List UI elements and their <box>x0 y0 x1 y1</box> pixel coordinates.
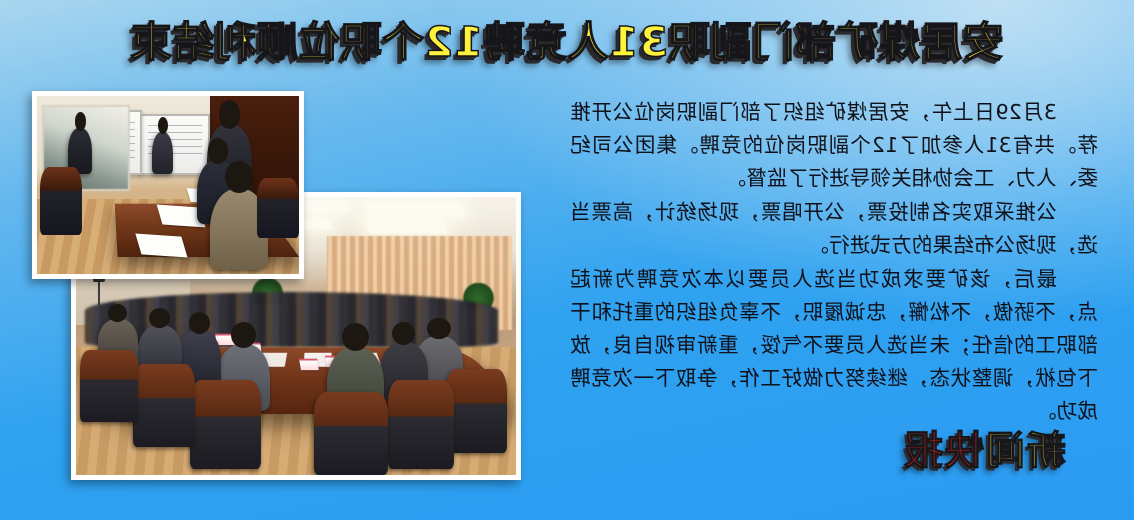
news-bulletin-badge: 新闻快报 <box>902 432 1066 471</box>
ceiling-light <box>364 203 466 217</box>
ceiling-light <box>364 222 448 233</box>
article-paragraph-2: 公推采取实名制投票，公开唱票，现场统计，高票当选，现场公布结果的方式进行。 <box>570 196 1098 262</box>
office-chair <box>80 350 137 422</box>
vote-counting-photo <box>32 91 304 279</box>
office-chair <box>314 392 389 475</box>
office-chair <box>388 380 454 469</box>
page-title: 安居煤矿部门副职31人竞聘12个职位顺利结束 <box>0 8 1134 68</box>
ballot-document <box>136 233 188 257</box>
mirrored-content-wrapper: 安居煤矿部门副职31人竞聘12个职位顺利结束 3月29日上午，安居煤矿组织了部门… <box>0 0 1134 520</box>
name-placard <box>298 359 318 371</box>
office-chair <box>257 178 299 239</box>
office-chair <box>446 369 508 452</box>
article-paragraph-1: 3月29日上午，安居煤矿组织了部门副职岗位公开推荐。共有31人参加了12个副职岗… <box>570 96 1098 195</box>
news-slide: 安居煤矿部门副职31人竞聘12个职位顺利结束 3月29日上午，安居煤矿组织了部门… <box>0 0 1134 520</box>
badge-text-primary: 新闻 <box>984 429 1066 474</box>
article-paragraph-3: 最后，该矿要求成功当选人员要以本次竞聘为新起点，不骄傲，不松懈，忠诚履职，不辜负… <box>570 263 1098 428</box>
badge-text-secondary: 快报 <box>902 429 984 474</box>
office-chair <box>40 167 82 235</box>
tally-recorder <box>152 132 173 175</box>
article-body: 3月29日上午，安居煤矿组织了部门副职岗位公开推荐。共有31人参加了12个副职岗… <box>570 96 1098 429</box>
whiteboard <box>138 114 210 175</box>
office-chair <box>190 380 260 469</box>
camera-tripod <box>98 280 100 324</box>
vote-counting-photo-image <box>37 96 299 274</box>
office-chair <box>133 364 195 447</box>
